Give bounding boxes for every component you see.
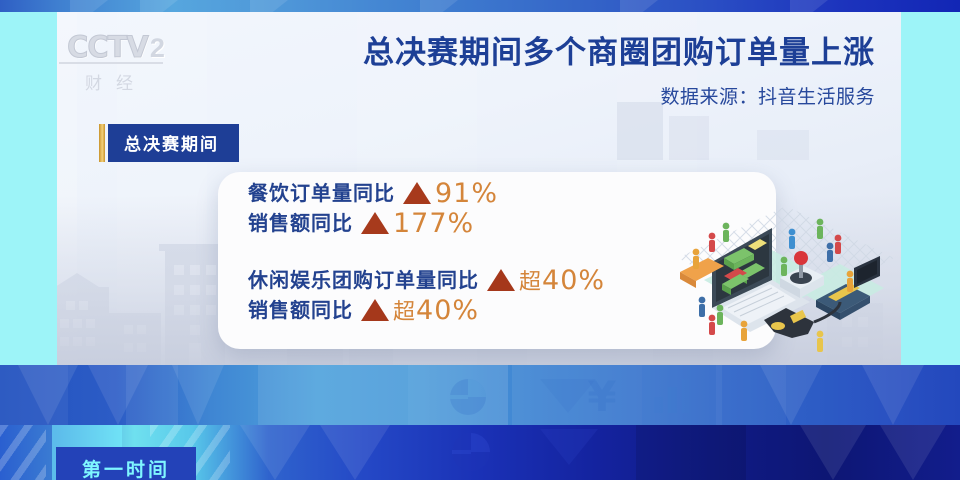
stat-label: 销售额同比	[248, 301, 353, 321]
footer-upper-decorative-band: ¥	[0, 365, 960, 425]
pie-chart-icon	[450, 431, 492, 478]
top-decorative-strip	[0, 0, 960, 12]
triangle-up-icon	[361, 299, 389, 321]
chevron-down-icon	[540, 429, 598, 472]
triangle-up-icon	[403, 182, 431, 204]
svg-text:¥: ¥	[587, 373, 616, 419]
right-cyan-border	[901, 12, 960, 365]
bar-chart-icon	[652, 379, 696, 418]
stats-list: 餐饮订单量同比 91% 销售额同比 177% 休闲娱乐团购订单量同比 超40% …	[248, 180, 605, 327]
stat-value: 177%	[393, 210, 474, 237]
cctv2-channel-logo: CCTV2 财经	[57, 30, 175, 92]
logo-channel-number: 2	[150, 33, 165, 64]
logo-cctv-text: CCTV	[67, 30, 148, 64]
program-name-badge: 第一时间	[56, 447, 196, 480]
stat-row: 销售额同比 177%	[248, 210, 605, 237]
isometric-entertainment-illustration	[668, 196, 898, 356]
stat-value: 91%	[435, 180, 498, 207]
stat-label: 餐饮订单量同比	[248, 184, 395, 204]
logo-subtitle-caijing: 财经	[57, 69, 175, 94]
stat-value: 超40%	[393, 297, 479, 324]
stat-row: 休闲娱乐团购订单量同比 超40%	[248, 267, 605, 294]
stats-group-separator	[248, 240, 605, 267]
page-title: 总决赛期间多个商圈团购订单量上涨	[363, 34, 875, 73]
data-source-subtitle: 数据来源：抖音生活服务	[363, 82, 875, 109]
pie-chart-icon	[448, 377, 488, 422]
yen-currency-icon: ¥	[580, 373, 624, 424]
headline-block: 总决赛期间多个商圈团购订单量上涨 数据来源：抖音生活服务	[363, 34, 875, 109]
stat-row: 餐饮订单量同比 91%	[248, 180, 605, 207]
section-badge: 总决赛期间	[99, 124, 239, 162]
stat-value: 超40%	[519, 267, 605, 294]
triangle-up-icon	[487, 269, 515, 291]
left-cyan-border	[0, 12, 57, 365]
logo-underline	[59, 62, 163, 64]
broadcast-graphic-stage: CCTV2 财经 总决赛期间多个商圈团购订单量上涨 数据来源：抖音生活服务 总决…	[0, 0, 960, 480]
stat-label: 休闲娱乐团购订单量同比	[248, 271, 479, 291]
stat-row: 销售额同比 超40%	[248, 297, 605, 324]
section-badge-label: 总决赛期间	[108, 124, 239, 162]
triangle-up-icon	[361, 212, 389, 234]
stat-label: 销售额同比	[248, 214, 353, 234]
